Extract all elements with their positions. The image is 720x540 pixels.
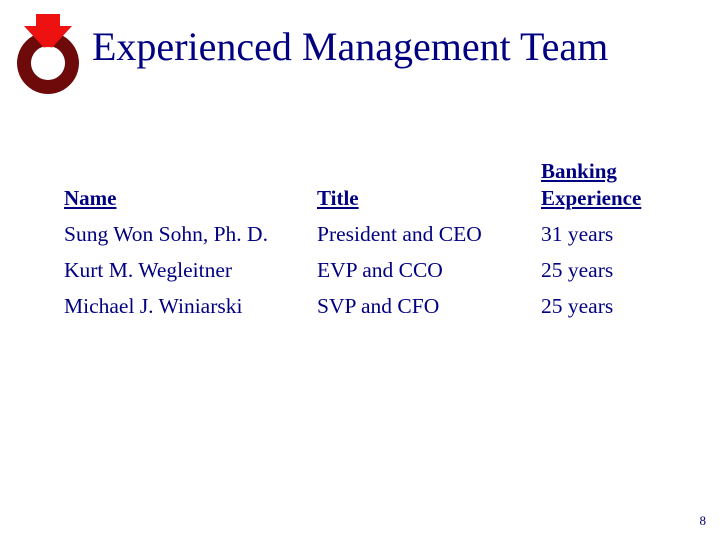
cell-title: SVP and CFO <box>317 292 541 320</box>
page-title: Experienced Management Team <box>92 24 608 70</box>
cell-experience: 25 years <box>541 256 664 284</box>
slide: Experienced Management Team Name Title B… <box>0 0 720 540</box>
cell-experience: 25 years <box>541 292 664 320</box>
cell-experience: 31 years <box>541 220 664 248</box>
column-header-name: Name <box>64 185 317 212</box>
cell-name: Michael J. Winiarski <box>64 292 317 320</box>
table-header-row: Name Title Banking Experience <box>64 150 664 212</box>
company-logo <box>10 12 86 94</box>
logo-hole <box>32 47 64 79</box>
page-number: 8 <box>700 513 707 528</box>
cell-name: Kurt M. Wegleitner <box>64 256 317 284</box>
table-row: Sung Won Sohn, Ph. D. President and CEO … <box>64 212 664 248</box>
table-row: Michael J. Winiarski SVP and CFO 25 year… <box>64 284 664 320</box>
column-header-banking-experience: Banking Experience <box>541 158 664 212</box>
table-row: Kurt M. Wegleitner EVP and CCO 25 years <box>64 248 664 284</box>
cell-title: EVP and CCO <box>317 256 541 284</box>
cell-title: President and CEO <box>317 220 541 248</box>
cell-name: Sung Won Sohn, Ph. D. <box>64 220 317 248</box>
column-header-title: Title <box>317 185 541 212</box>
management-team-table: Name Title Banking Experience Sung Won S… <box>64 150 664 320</box>
